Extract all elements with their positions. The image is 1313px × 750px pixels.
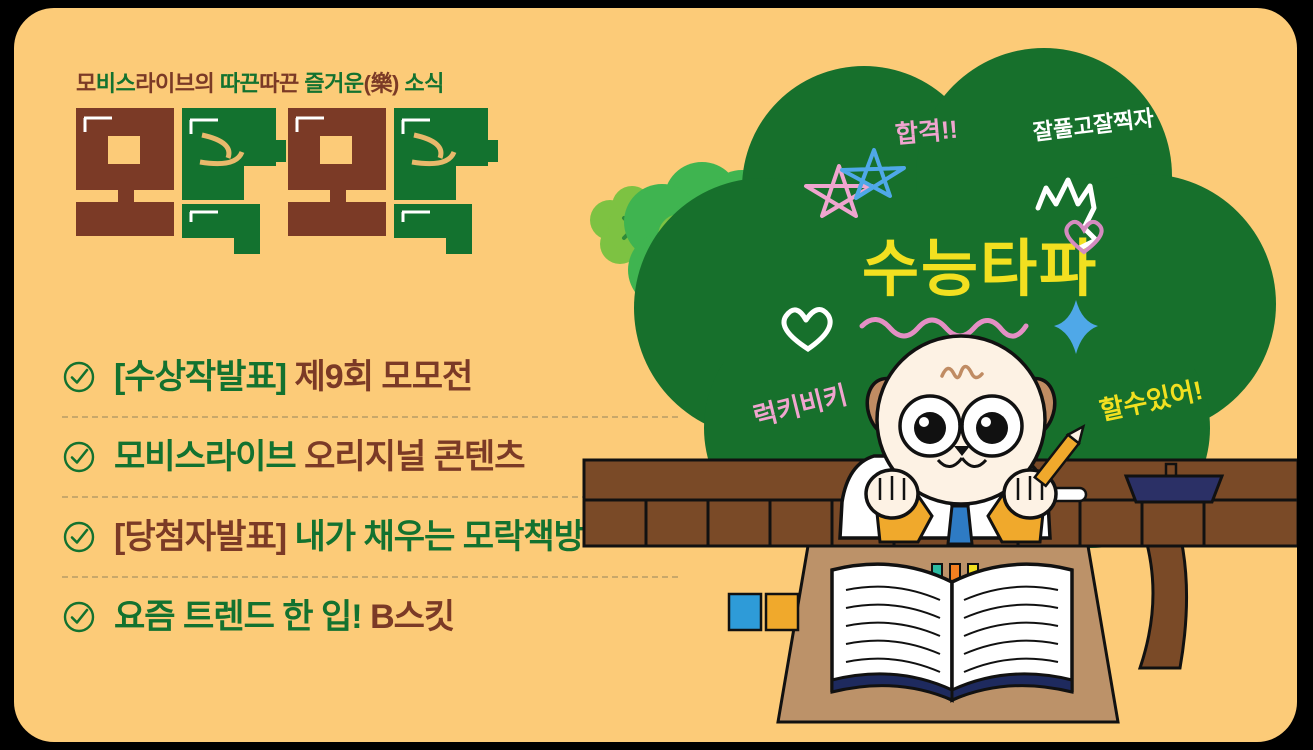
check-circle-icon	[62, 440, 96, 474]
orange-sticky-note	[766, 594, 798, 630]
list-item-label-part: 요즘 트렌드 한 입!	[114, 598, 370, 636]
promo-card: 모비스라이브의 따끈따끈 즐거운(樂) 소식	[14, 8, 1297, 742]
logo-char-mo-2	[288, 108, 386, 236]
kicker-part: 따끈	[220, 71, 259, 96]
logo-char-rak-1	[182, 108, 286, 254]
list-item-label-part: [수상작발표]	[114, 358, 295, 396]
kicker-part: 따끈	[259, 71, 304, 96]
kicker-text: 모비스라이브의 따끈따끈 즐거운(樂) 소식	[76, 66, 444, 98]
kicker-part: (樂)	[364, 71, 405, 96]
check-circle-icon	[62, 520, 96, 554]
list-item-label-part: 제9회 모모전	[295, 358, 473, 396]
logo-char-rak-2	[394, 108, 498, 254]
open-book-icon	[832, 564, 1072, 700]
list-item-label-part: 모비스라이브	[114, 438, 304, 476]
kicker-part: 즐거운	[304, 71, 363, 96]
logo-morakmorak	[72, 100, 512, 260]
kicker-part: 라이브의	[135, 71, 220, 96]
left-paw	[866, 470, 918, 518]
logo-char-mo-1	[76, 108, 174, 236]
list-item-label: [수상작발표] 제9회 모모전	[114, 360, 472, 394]
blue-sticky-note	[729, 594, 761, 630]
kicker-part: 비스	[96, 71, 135, 96]
illustration-area: 합격!! 잘풀고잘찍자 수능타파 럭키비키 할수있어!	[574, 8, 1297, 742]
right-eye	[976, 412, 1008, 444]
list-item-label-part: [당첨자발표]	[114, 518, 295, 556]
screenshot-stage: 모비스라이브의 따끈따끈 즐거운(樂) 소식	[0, 0, 1313, 750]
chalk-text-hapgyeok: 합격!!	[894, 116, 959, 149]
list-item-label: 모비스라이브 오리지널 콘텐츠	[114, 440, 525, 474]
list-item-label: 요즘 트렌드 한 입! B스킷	[114, 600, 454, 634]
list-item-label-part: B스킷	[370, 598, 454, 636]
kicker-part: 소식	[404, 71, 443, 96]
check-circle-icon	[62, 600, 96, 634]
check-circle-icon	[62, 360, 96, 394]
kicker-part: 모	[76, 71, 96, 96]
chalk-text-suneungtapa: 수능타파	[862, 235, 1098, 304]
list-item-label: [당첨자발표] 내가 채우는 모락책방	[114, 520, 584, 554]
left-eye	[914, 412, 946, 444]
list-item-label-part: 내가 채우는 모락책방	[295, 518, 584, 556]
list-item-label-part: 오리지널 콘텐츠	[304, 438, 524, 476]
